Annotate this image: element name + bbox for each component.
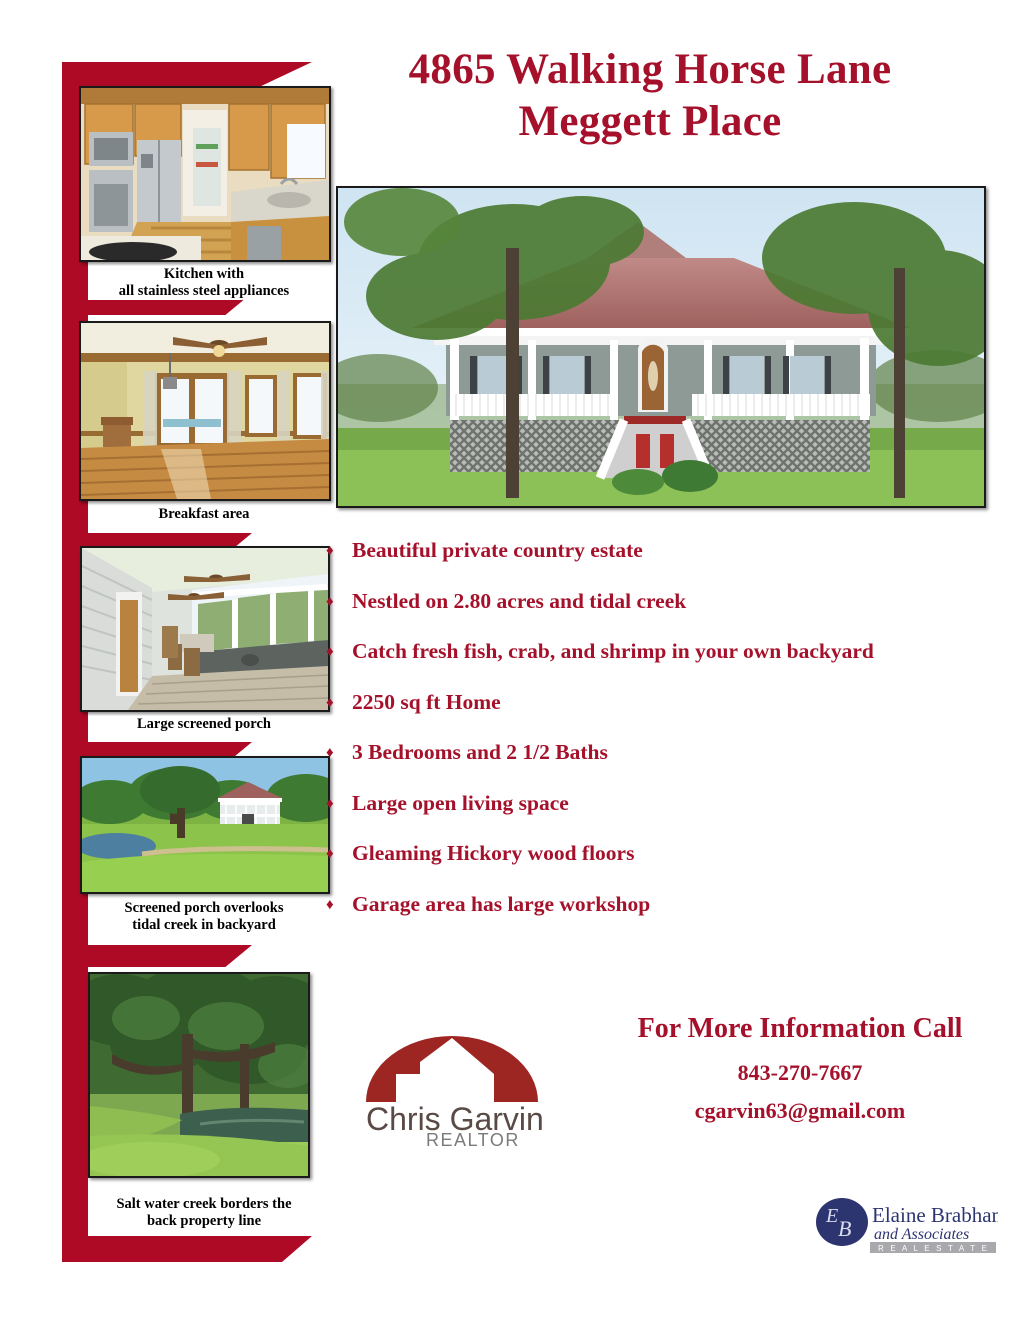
- caption-backyard-line-1: Screened porch overlooks: [88, 900, 320, 917]
- feature-text: Large open living space: [352, 791, 569, 815]
- feature-text: Gleaming Hickory wood floors: [352, 841, 634, 865]
- caption-backyard-creek-view: Screened porch overlooks tidal creek in …: [88, 900, 320, 934]
- list-item: ♦ Catch fresh fish, crab, and shrimp in …: [326, 639, 1016, 663]
- contact-heading: For More Information Call: [600, 1012, 1000, 1046]
- caption-breakfast-area-line-1: Breakfast area: [88, 506, 320, 523]
- caption-kitchen: Kitchen with all stainless steel applian…: [88, 266, 320, 300]
- brokerage-logo[interactable]: E B Elaine Brabham and Associates R E A …: [812, 1196, 998, 1258]
- brokerage-name: Elaine Brabham: [872, 1203, 998, 1227]
- thumbnail-screened-porch[interactable]: [80, 546, 330, 712]
- list-item: ♦ 2250 sq ft Home: [326, 690, 1016, 714]
- brokerage-industry: R E A L E S T A T E: [878, 1244, 989, 1253]
- feature-list: ♦ Beautiful private country estate ♦ Nes…: [326, 538, 1016, 942]
- feature-text: Garage area has large workshop: [352, 892, 650, 916]
- feature-text: Nestled on 2.80 acres and tidal creek: [352, 589, 686, 613]
- feature-text: 3 Bedrooms and 2 1/2 Baths: [352, 740, 608, 764]
- title-line-2: Meggett Place: [300, 96, 1000, 148]
- diamond-bullet-icon: ♦: [326, 645, 352, 660]
- caption-kitchen-line-1: Kitchen with: [88, 266, 320, 283]
- brokerage-monogram-e: E: [825, 1205, 838, 1227]
- contact-block: For More Information Call 843-270-7667 c…: [600, 1012, 1000, 1126]
- agent-logo-subtitle: REALTOR: [426, 1130, 520, 1148]
- page-title: 4865 Walking Horse Lane Meggett Place: [300, 44, 1000, 148]
- caption-creek-line-2: back property line: [88, 1213, 320, 1230]
- caption-screened-porch: Large screened porch: [88, 716, 320, 733]
- thumbnail-kitchen[interactable]: [79, 86, 331, 262]
- frame-divider-tab-4: [62, 945, 252, 967]
- thumbnail-breakfast-area[interactable]: [79, 321, 331, 501]
- list-item: ♦ Garage area has large workshop: [326, 892, 1016, 916]
- thumbnail-backyard-creek-view[interactable]: [80, 756, 330, 894]
- list-item: ♦ 3 Bedrooms and 2 1/2 Baths: [326, 740, 1016, 764]
- contact-email[interactable]: cgarvin63@gmail.com: [600, 1096, 1000, 1126]
- feature-text: 2250 sq ft Home: [352, 690, 501, 714]
- diamond-bullet-icon: ♦: [326, 544, 352, 559]
- diamond-bullet-icon: ♦: [326, 595, 352, 610]
- agent-logo[interactable]: Chris Garvin REALTOR: [352, 1018, 552, 1148]
- list-item: ♦ Nestled on 2.80 acres and tidal creek: [326, 589, 1016, 613]
- list-item: ♦ Gleaming Hickory wood floors: [326, 841, 1016, 865]
- caption-breakfast-area: Breakfast area: [88, 506, 320, 523]
- caption-kitchen-line-2: all stainless steel appliances: [88, 283, 320, 300]
- diamond-bullet-icon: ♦: [326, 847, 352, 862]
- caption-screened-porch-line-1: Large screened porch: [88, 716, 320, 733]
- diamond-bullet-icon: ♦: [326, 696, 352, 711]
- feature-text: Catch fresh fish, crab, and shrimp in yo…: [352, 639, 874, 663]
- diamond-bullet-icon: ♦: [326, 797, 352, 812]
- frame-bottom-tab: [62, 1236, 312, 1262]
- list-item: ♦ Large open living space: [326, 791, 1016, 815]
- frame-top-tab: [62, 62, 312, 88]
- caption-backyard-line-2: tidal creek in backyard: [88, 917, 320, 934]
- brokerage-tagline: and Associates: [874, 1226, 969, 1243]
- thumbnail-salt-water-creek[interactable]: [88, 972, 310, 1178]
- main-house-photo[interactable]: [336, 186, 986, 508]
- diamond-bullet-icon: ♦: [326, 746, 352, 761]
- caption-salt-water-creek: Salt water creek borders the back proper…: [88, 1196, 320, 1230]
- contact-phone[interactable]: 843-270-7667: [600, 1058, 1000, 1088]
- brokerage-monogram-b: B: [838, 1216, 851, 1241]
- diamond-bullet-icon: ♦: [326, 898, 352, 913]
- list-item: ♦ Beautiful private country estate: [326, 538, 1016, 562]
- title-line-1: 4865 Walking Horse Lane: [300, 44, 1000, 96]
- caption-creek-line-1: Salt water creek borders the: [88, 1196, 320, 1213]
- feature-text: Beautiful private country estate: [352, 538, 643, 562]
